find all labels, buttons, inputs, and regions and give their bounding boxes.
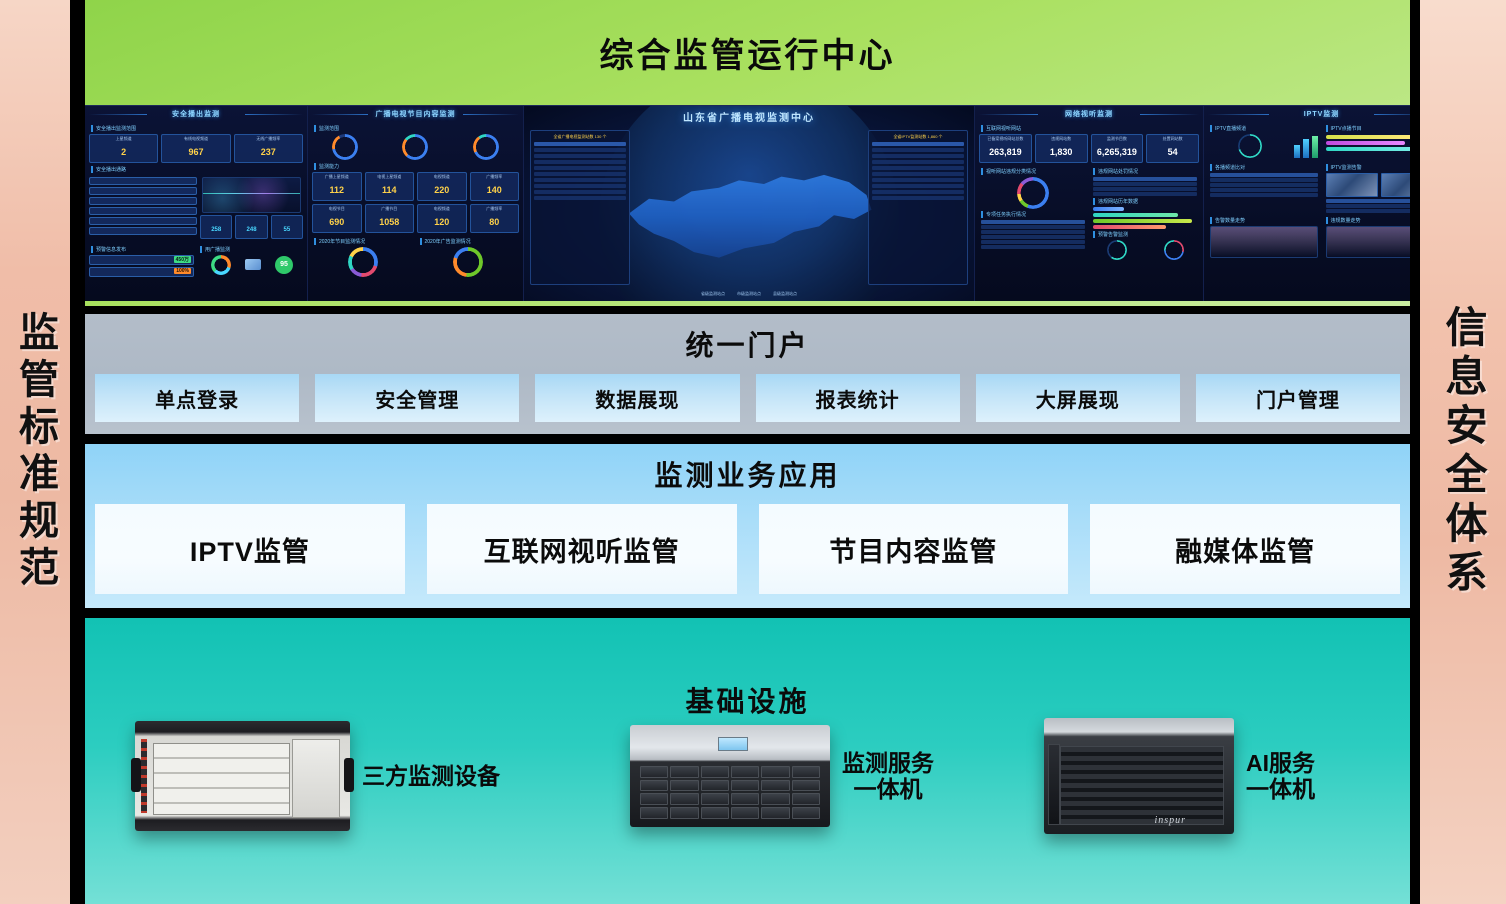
app-card-program-content[interactable]: 节目内容监管 bbox=[759, 504, 1069, 594]
alarm-table bbox=[1326, 199, 1411, 213]
bar bbox=[1326, 135, 1411, 139]
table-row bbox=[534, 166, 626, 170]
kpi-card: 广播频率 80 bbox=[470, 204, 520, 233]
rack-server-2u-icon bbox=[630, 725, 830, 827]
table-row bbox=[534, 172, 626, 176]
bar bbox=[1326, 147, 1411, 151]
bar bbox=[1326, 141, 1406, 145]
panel-subtitle: 专项任务执行情况 bbox=[981, 211, 1087, 218]
badge: 100% bbox=[174, 268, 191, 274]
rack-slots bbox=[153, 743, 290, 815]
donut-chart bbox=[402, 134, 428, 160]
table-row bbox=[872, 154, 964, 158]
portal-tile-row: 单点登录 安全管理 数据展现 报表统计 大屏展现 门户管理 bbox=[95, 374, 1400, 422]
server-left-bar bbox=[1048, 744, 1060, 825]
donut-chart bbox=[473, 134, 499, 160]
legend-item: 县级监测站点 bbox=[773, 291, 797, 297]
tree-node bbox=[89, 187, 197, 195]
kpi-card: 广播频率 140 bbox=[470, 172, 520, 201]
rack-handle bbox=[131, 758, 141, 792]
section-unified-portal: 统一门户 单点登录 安全管理 数据展现 报表统计 大屏展现 门户管理 bbox=[85, 314, 1410, 434]
infra-item-ai-server: inspur AI服务 一体机 bbox=[1044, 718, 1315, 834]
bar-2018 bbox=[1093, 225, 1166, 229]
inspur-logo: inspur bbox=[1154, 815, 1186, 826]
video-thumbnail bbox=[1381, 173, 1410, 197]
trend-value: 55 bbox=[271, 215, 303, 239]
tree-node-list bbox=[89, 177, 197, 235]
infra-title: 基础设施 bbox=[95, 618, 1400, 720]
trend-value: 248 bbox=[235, 215, 267, 239]
drive-bays bbox=[640, 766, 820, 819]
panel-subtitle: 预警信息发布 bbox=[91, 246, 194, 253]
panel-subtitle: 互联网视听网站 bbox=[981, 125, 1199, 132]
portal-title: 统一门户 bbox=[95, 320, 1400, 374]
table-row bbox=[872, 196, 964, 200]
table-row bbox=[1210, 183, 1318, 187]
map-table-title: 全省IPTV监测站数 1,860 个 bbox=[872, 134, 964, 140]
panel-subtitle: 监测范围 bbox=[314, 125, 519, 132]
table-row bbox=[1093, 182, 1197, 186]
trend-line-chart bbox=[202, 177, 301, 213]
table-row bbox=[534, 190, 626, 194]
table-row bbox=[1093, 192, 1197, 196]
video-thumbnail bbox=[1326, 173, 1378, 197]
panel-subtitle: IPTV直播频道 bbox=[1210, 125, 1320, 132]
portal-tile-sso[interactable]: 单点登录 bbox=[95, 374, 299, 422]
bar bbox=[1312, 136, 1318, 158]
legend-item: 省级监测站点 bbox=[701, 291, 725, 297]
apps-title: 监测业务应用 bbox=[95, 450, 1400, 504]
ops-center-title: 综合监管运行中心 bbox=[85, 0, 1410, 105]
donut-chart bbox=[332, 134, 358, 160]
infra-label-third-party: 三方监测设备 bbox=[362, 763, 500, 789]
gauge-95: 95 bbox=[275, 256, 293, 274]
rack-right-panel bbox=[292, 739, 340, 818]
table-row bbox=[534, 178, 626, 182]
badge: 450万 bbox=[174, 256, 191, 263]
panel-header: 广播电视节目内容监测 bbox=[308, 106, 523, 121]
tree-node bbox=[89, 217, 197, 225]
map-legend: 省级监测站点 市级监测站点 县级监测站点 bbox=[701, 291, 797, 297]
panel-subtitle: 用广播监测 bbox=[200, 246, 303, 253]
tree-node bbox=[89, 197, 197, 205]
table-row bbox=[1210, 188, 1318, 192]
year-bar-chart bbox=[1093, 207, 1197, 229]
panel-subtitle: 违规数量走势 bbox=[1326, 217, 1411, 224]
map-table-title: 全省广播电视监测站数 130 个 bbox=[534, 134, 626, 140]
device-icon bbox=[245, 259, 261, 270]
app-card-convergent-media[interactable]: 融媒体监管 bbox=[1090, 504, 1400, 594]
dashboard-panel-security-broadcast: 安全播出监测 安全播出监测范围 上星频道 2 有线电视频道 967 bbox=[85, 106, 308, 301]
kpi-card: 已备案视听网站总数 263,819 bbox=[979, 134, 1032, 163]
apps-row: IPTV监管 互联网视听监管 节目内容监管 融媒体监管 bbox=[95, 504, 1400, 594]
infra-item-third-party: 三方监测设备 bbox=[135, 721, 500, 831]
tree-node bbox=[89, 227, 197, 235]
panel-header: 安全播出监测 bbox=[85, 106, 307, 121]
panel-subtitle: 各播频道比对 bbox=[1210, 164, 1320, 171]
table-row bbox=[534, 148, 626, 152]
table-row bbox=[534, 196, 626, 200]
kpi-card: 违规网站数 1,830 bbox=[1035, 134, 1088, 163]
table-row bbox=[872, 184, 964, 188]
left-rail-label: 监管标准规范 bbox=[14, 311, 56, 593]
portal-tile-report-stats[interactable]: 报表统计 bbox=[756, 374, 960, 422]
bar-2020 bbox=[1093, 213, 1178, 217]
table-row bbox=[1093, 187, 1197, 191]
kpi-card: 有线电视频道 967 bbox=[161, 134, 230, 163]
panel-subtitle: 视听网站违规分类情况 bbox=[981, 168, 1087, 175]
table-row bbox=[534, 184, 626, 188]
ai-server-icon: inspur bbox=[1044, 718, 1234, 834]
kpi-card: 电视上星频道 114 bbox=[365, 172, 415, 201]
infra-label-monitor-server: 监测服务 一体机 bbox=[842, 750, 934, 803]
table-row bbox=[872, 190, 964, 194]
table-row bbox=[1326, 204, 1411, 208]
bar-2019 bbox=[1093, 219, 1192, 223]
kpi-card: 电视频道 220 bbox=[417, 172, 467, 201]
dashboard-screenshot: 安全播出监测 安全播出监测范围 上星频道 2 有线电视频道 967 bbox=[85, 105, 1410, 301]
kpi-row: 上星频道 2 有线电视频道 967 无线广播频率 237 bbox=[89, 134, 303, 163]
table-row bbox=[872, 178, 964, 182]
kpi-card: 广播节目 1058 bbox=[365, 204, 415, 233]
dashboard-panel-map: 山东省广播电视监测中心 全省广播电视监测站数 130 个 bbox=[524, 106, 975, 301]
table-row bbox=[872, 148, 964, 152]
table-header-row bbox=[1093, 177, 1197, 181]
right-rail-security: 信息安全体系 bbox=[1420, 0, 1506, 904]
left-rail-standards: 监管标准规范 bbox=[0, 0, 70, 904]
dashboard-panel-program-content: 广播电视节目内容监测 监测范围 监测能力 广播上星频道 bbox=[308, 106, 524, 301]
panel-subtitle: 2020年节目监测情况 bbox=[314, 238, 414, 245]
kpi-card: 处置网站数 54 bbox=[1146, 134, 1199, 163]
infra-item-monitor-server: 监测服务 一体机 bbox=[630, 725, 934, 827]
table-header-row bbox=[1210, 173, 1318, 177]
tree-node bbox=[89, 207, 197, 215]
dashboard-panel-network-av: 网络视听监测 互联网视听网站 已备案视听网站总数 263,819 违规网站数 1… bbox=[975, 106, 1204, 301]
portal-tile-security-mgmt[interactable]: 安全管理 bbox=[315, 374, 519, 422]
table-row bbox=[981, 235, 1085, 239]
app-card-iptv[interactable]: IPTV监管 bbox=[95, 504, 405, 594]
kpi-card: 无线广播频率 237 bbox=[234, 134, 303, 163]
rack-handle bbox=[344, 758, 354, 792]
rack-chassis-icon bbox=[135, 721, 350, 831]
kpi-card: 电视节目 690 bbox=[312, 204, 362, 233]
panel-subtitle: 安全播出监测范围 bbox=[91, 125, 303, 132]
task-table bbox=[981, 220, 1085, 249]
table-row bbox=[981, 230, 1085, 234]
map-title: 山东省广播电视监测中心 bbox=[683, 109, 815, 124]
table-row bbox=[534, 160, 626, 164]
panel-header: 网络视听监测 bbox=[975, 106, 1203, 121]
table-header-row bbox=[872, 142, 964, 146]
panel-subtitle: 预警告警监测 bbox=[1093, 231, 1199, 238]
table-row bbox=[872, 160, 964, 164]
alarm-trend-area-chart bbox=[1210, 226, 1318, 258]
portal-tile-data-display[interactable]: 数据展现 bbox=[535, 374, 739, 422]
kpi-card: 电视频道 120 bbox=[417, 204, 467, 233]
panel-subtitle: 告警数量走势 bbox=[1210, 217, 1320, 224]
tree-node bbox=[89, 177, 197, 185]
section-business-apps: 监测业务应用 IPTV监管 互联网视听监管 节目内容监管 融媒体监管 bbox=[85, 444, 1410, 608]
server-fins bbox=[1060, 746, 1224, 825]
table-header-row bbox=[534, 142, 626, 146]
bar-2021 bbox=[1093, 207, 1124, 211]
panel-subtitle: 违规网站处罚情况 bbox=[1093, 168, 1199, 175]
server-lcd bbox=[718, 737, 748, 751]
portal-tile-portal-mgmt[interactable]: 门户管理 bbox=[1196, 374, 1400, 422]
table-header-row bbox=[1326, 199, 1411, 203]
penalty-table bbox=[1093, 177, 1197, 196]
table-row bbox=[1326, 209, 1411, 213]
donut-chart bbox=[348, 247, 378, 277]
table-row bbox=[981, 240, 1085, 244]
table-row bbox=[872, 166, 964, 170]
table-row bbox=[1210, 178, 1318, 182]
portal-tile-bigscreen[interactable]: 大屏展现 bbox=[976, 374, 1180, 422]
dashboard-panel-iptv: IPTV监测 IPTV直播频道 bbox=[1204, 106, 1410, 301]
section-infrastructure: 基础设施 三方监测设备 bbox=[85, 618, 1410, 904]
compare-table bbox=[1210, 173, 1318, 197]
legend-item: 市级监测站点 bbox=[737, 291, 761, 297]
panel-subtitle: 安全播出通路 bbox=[91, 166, 303, 173]
gauge-chart bbox=[1107, 240, 1127, 260]
panel-header: IPTV监测 bbox=[1204, 106, 1410, 121]
app-card-internet-av[interactable]: 互联网视听监管 bbox=[427, 504, 737, 594]
kpi-card: 广播上星频道 112 bbox=[312, 172, 362, 201]
table-row bbox=[1210, 193, 1318, 197]
map-table-left: 全省广播电视监测站数 130 个 bbox=[530, 130, 630, 285]
infra-label-ai-server: AI服务 一体机 bbox=[1246, 750, 1315, 803]
panel-subtitle: 监测能力 bbox=[314, 163, 519, 170]
panel-subtitle: IPTV点播节目 bbox=[1326, 125, 1411, 132]
bar bbox=[1303, 139, 1309, 158]
donut-chart bbox=[1017, 177, 1049, 209]
map-table-right: 全省IPTV监测站数 1,860 个 bbox=[868, 130, 968, 285]
kpi-card: 监测节目数 6,265,319 bbox=[1091, 134, 1144, 163]
trend-value: 258 bbox=[200, 215, 232, 239]
kpi-card: 上星频道 2 bbox=[89, 134, 158, 163]
gauge-chart bbox=[1238, 134, 1262, 158]
architecture-diagram: 监管标准规范 信息安全体系 综合监管运行中心 安全播出监测 安全播出监测范围 bbox=[0, 0, 1506, 904]
panel-subtitle: IPTV监测告警 bbox=[1326, 164, 1411, 171]
right-rail-label: 信息安全体系 bbox=[1441, 305, 1485, 599]
layer-stack: 综合监管运行中心 安全播出监测 安全播出监测范围 上星频道 2 bbox=[70, 0, 1420, 904]
radial-chart bbox=[211, 255, 231, 275]
bar bbox=[1294, 145, 1300, 158]
alarm-thumbnails bbox=[1326, 173, 1411, 197]
panel-subtitle: 2020年广告监测情况 bbox=[420, 238, 520, 245]
infra-device-row: 三方监测设备 监测服务 一体机 bbox=[125, 718, 1380, 834]
panel-subtitle: 违规网站历年数据 bbox=[1093, 198, 1199, 205]
table-row bbox=[534, 154, 626, 158]
table-row bbox=[872, 172, 964, 176]
table-row bbox=[981, 245, 1085, 249]
gauge-chart bbox=[1164, 240, 1184, 260]
table-row bbox=[981, 225, 1085, 229]
violation-trend-area-chart bbox=[1326, 226, 1411, 258]
section-ops-center: 综合监管运行中心 安全播出监测 安全播出监测范围 上星频道 2 bbox=[85, 0, 1410, 306]
donut-chart bbox=[453, 247, 483, 277]
table-header-row bbox=[981, 220, 1085, 224]
